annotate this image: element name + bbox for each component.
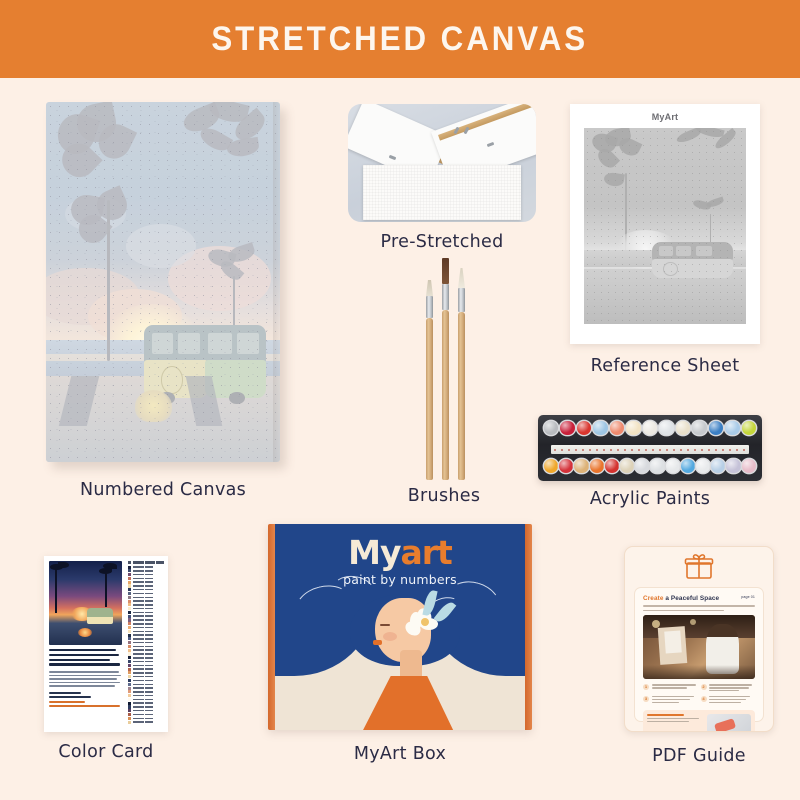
color-chart-row bbox=[128, 679, 164, 682]
quantity-bar bbox=[145, 680, 153, 682]
pdf-heading-rest: a Peaceful Space bbox=[664, 595, 720, 602]
color-swatch bbox=[128, 671, 131, 674]
pdf-tip: 2 bbox=[701, 684, 756, 693]
color-id-bar bbox=[133, 589, 144, 591]
color-id-bar bbox=[133, 657, 144, 659]
color-chart-row bbox=[128, 683, 164, 686]
color-chart-row bbox=[128, 637, 164, 640]
pdf-tip-number: 4 bbox=[701, 696, 707, 702]
color-swatch bbox=[128, 596, 131, 599]
color-swatch bbox=[128, 577, 131, 580]
color-chart-row bbox=[128, 668, 164, 671]
color-swatch bbox=[128, 611, 131, 614]
color-id-bar bbox=[133, 687, 144, 689]
color-chart-row bbox=[128, 592, 164, 595]
pdf-tip-number: 1 bbox=[643, 684, 649, 690]
color-id-bar bbox=[133, 593, 144, 595]
color-id-bar bbox=[133, 680, 144, 682]
paint-pot bbox=[742, 421, 756, 435]
color-swatch bbox=[128, 584, 131, 587]
product-item-pre-stretched: Pre-Stretched bbox=[348, 104, 536, 222]
color-id-bar bbox=[133, 642, 144, 644]
gift-icon bbox=[684, 552, 714, 580]
page-title: STRETCHED CANVAS bbox=[212, 20, 589, 59]
quantity-bar bbox=[145, 691, 153, 693]
pdf-tip: 4 bbox=[701, 696, 756, 705]
color-swatch bbox=[128, 637, 131, 640]
paint-pot bbox=[574, 459, 588, 473]
paint-pot bbox=[559, 459, 573, 473]
quantity-bar bbox=[145, 676, 153, 678]
paint-pot bbox=[692, 421, 706, 435]
quantity-bar bbox=[145, 604, 153, 606]
color-chart-table bbox=[128, 566, 164, 724]
color-chart-row bbox=[128, 615, 164, 618]
color-swatch bbox=[128, 694, 131, 697]
color-swatch bbox=[128, 618, 131, 621]
color-chart-row bbox=[128, 573, 164, 576]
paint-pot bbox=[681, 459, 695, 473]
quantity-bar bbox=[145, 710, 153, 712]
pdf-tip-number: 2 bbox=[701, 684, 707, 690]
paint-pot-row-bottom bbox=[544, 459, 756, 473]
color-chart-row bbox=[128, 596, 164, 599]
color-id-bar bbox=[133, 597, 144, 599]
color-id-bar bbox=[133, 661, 144, 663]
box-logo: Myart bbox=[275, 536, 525, 569]
caption-color-card: Color Card bbox=[44, 742, 168, 762]
color-chart-row bbox=[128, 618, 164, 621]
paintbrush-icon bbox=[398, 258, 490, 480]
paint-pot bbox=[742, 459, 756, 473]
caption-brushes: Brushes bbox=[398, 486, 490, 506]
color-card-instructions bbox=[49, 649, 122, 707]
color-id-bar bbox=[133, 646, 144, 648]
paintbrush-3 bbox=[458, 268, 465, 480]
product-item-color-card: Color Card bbox=[44, 556, 168, 732]
caption-myart-box: MyArt Box bbox=[268, 744, 532, 764]
color-chart-row bbox=[128, 577, 164, 580]
box-logo-art: art bbox=[401, 533, 452, 572]
box-side-left bbox=[268, 524, 275, 730]
quantity-bar bbox=[145, 638, 153, 640]
color-chart-row bbox=[128, 698, 164, 701]
color-swatch bbox=[128, 668, 131, 671]
paint-pot bbox=[544, 459, 558, 473]
color-id-bar bbox=[133, 574, 144, 576]
color-chart-header bbox=[128, 561, 164, 564]
caption-numbered-canvas: Numbered Canvas bbox=[46, 480, 280, 500]
quantity-bar bbox=[145, 661, 153, 663]
color-id-bar bbox=[133, 604, 144, 606]
color-swatch bbox=[128, 573, 131, 576]
color-id-bar bbox=[133, 612, 144, 614]
color-id-bar bbox=[133, 566, 144, 568]
paint-pot bbox=[635, 459, 649, 473]
header-banner: STRETCHED CANVAS bbox=[0, 0, 800, 78]
color-swatch bbox=[128, 645, 131, 648]
paint-pot-row-top bbox=[544, 421, 756, 435]
pdf-tip: 3 bbox=[643, 696, 698, 705]
pdf-tips-grid: 1 2 3 4 bbox=[643, 684, 755, 704]
color-swatch bbox=[128, 660, 131, 663]
color-swatch bbox=[128, 679, 131, 682]
quantity-bar bbox=[145, 585, 153, 587]
color-swatch bbox=[128, 622, 131, 625]
paint-pot bbox=[620, 459, 634, 473]
paint-pot bbox=[711, 459, 725, 473]
color-chart-row bbox=[128, 581, 164, 584]
color-swatch bbox=[128, 592, 131, 595]
paintbrush-2 bbox=[442, 258, 449, 480]
paper-sheet-icon: MyArt bbox=[570, 104, 760, 344]
color-chart-row bbox=[128, 641, 164, 644]
quantity-bar bbox=[145, 623, 153, 625]
color-chart-row bbox=[128, 656, 164, 659]
caption-reference-sheet: Reference Sheet bbox=[570, 356, 760, 376]
color-chart-row bbox=[128, 702, 164, 705]
paint-pot bbox=[725, 421, 739, 435]
quantity-bar bbox=[145, 687, 153, 689]
canvas-edge-shadow bbox=[273, 102, 280, 462]
reference-sheet-logo: MyArt bbox=[570, 112, 760, 122]
product-item-pdf-guide: page 01 Create a Peaceful Space 1 bbox=[624, 546, 774, 732]
product-item-myart-box: Myart paint by numbers MyArt Box bbox=[268, 524, 532, 730]
color-id-bar bbox=[133, 695, 144, 697]
quantity-bar bbox=[145, 619, 153, 621]
pdf-page-number: page 01 bbox=[741, 595, 755, 599]
color-swatch bbox=[128, 626, 131, 629]
color-id-bar bbox=[133, 672, 144, 674]
color-id-bar bbox=[133, 600, 144, 602]
quantity-bar bbox=[145, 646, 153, 648]
paint-pot bbox=[659, 421, 673, 435]
color-swatch bbox=[128, 641, 131, 644]
color-swatch bbox=[128, 652, 131, 655]
color-swatch bbox=[128, 649, 131, 652]
color-swatch bbox=[128, 713, 131, 716]
product-item-acrylic-paints: Acrylic Paints bbox=[538, 415, 762, 481]
paint-pot bbox=[726, 459, 740, 473]
paint-pot bbox=[593, 421, 607, 435]
color-id-bar bbox=[133, 649, 144, 651]
color-chart-row bbox=[128, 584, 164, 587]
quantity-bar bbox=[145, 699, 153, 701]
color-chart-row bbox=[128, 721, 164, 724]
color-chart-row bbox=[128, 652, 164, 655]
color-chart-row bbox=[128, 569, 164, 572]
quantity-bar bbox=[145, 597, 153, 599]
pdf-photo bbox=[643, 615, 755, 679]
paint-pot bbox=[676, 421, 690, 435]
color-chart-row bbox=[128, 709, 164, 712]
color-chart-row bbox=[128, 622, 164, 625]
color-swatch bbox=[128, 569, 131, 572]
color-swatch bbox=[128, 664, 131, 667]
caption-acrylic-paints: Acrylic Paints bbox=[538, 489, 762, 509]
quantity-bar bbox=[145, 593, 153, 595]
canvas-icon bbox=[46, 102, 280, 462]
quantity-bar bbox=[145, 566, 153, 568]
color-id-bar bbox=[133, 668, 144, 670]
box-side-right bbox=[525, 524, 532, 730]
color-id-bar bbox=[133, 653, 144, 655]
color-id-bar bbox=[133, 702, 144, 704]
color-id-bar bbox=[133, 570, 144, 572]
quantity-bar bbox=[145, 570, 153, 572]
quantity-bar bbox=[145, 589, 153, 591]
paint-pot bbox=[610, 421, 624, 435]
color-swatch bbox=[128, 600, 131, 603]
color-swatch bbox=[128, 630, 131, 633]
paintbrush-1 bbox=[426, 280, 433, 480]
color-chart-row bbox=[128, 634, 164, 637]
color-swatch bbox=[128, 615, 131, 618]
color-id-bar bbox=[133, 581, 144, 583]
caption-pre-stretched: Pre-Stretched bbox=[348, 232, 536, 252]
tray-label bbox=[551, 445, 749, 454]
paint-pot bbox=[560, 421, 574, 435]
color-id-bar bbox=[133, 665, 144, 667]
paint-pot bbox=[590, 459, 604, 473]
color-id-bar bbox=[133, 691, 144, 693]
quantity-bar bbox=[145, 702, 153, 704]
paint-pot bbox=[577, 421, 591, 435]
paint-pot bbox=[643, 421, 657, 435]
paint-pot bbox=[696, 459, 710, 473]
color-id-bar bbox=[133, 631, 144, 633]
color-swatch bbox=[128, 687, 131, 690]
color-chart-row bbox=[128, 603, 164, 606]
quantity-bar bbox=[145, 608, 153, 610]
color-swatch bbox=[128, 705, 131, 708]
quantity-bar bbox=[145, 612, 153, 614]
color-chart-row bbox=[128, 607, 164, 610]
color-card-artwork bbox=[49, 561, 122, 645]
color-chart-row bbox=[128, 664, 164, 667]
paint-pot bbox=[544, 421, 558, 435]
color-chart-icon bbox=[44, 556, 168, 732]
color-chart-row bbox=[128, 694, 164, 697]
quantity-bar bbox=[145, 653, 153, 655]
product-item-reference-sheet: MyArt bbox=[570, 104, 760, 344]
paint-pot bbox=[666, 459, 680, 473]
color-id-bar bbox=[133, 676, 144, 678]
quantity-bar bbox=[145, 631, 153, 633]
color-chart-row bbox=[128, 687, 164, 690]
color-id-bar bbox=[133, 710, 144, 712]
quantity-bar bbox=[145, 665, 153, 667]
canvas-corner-icon bbox=[348, 104, 536, 222]
product-item-brushes: Brushes bbox=[398, 258, 490, 480]
paint-tray-icon bbox=[538, 415, 762, 481]
color-chart-row bbox=[128, 600, 164, 603]
quantity-bar bbox=[145, 706, 153, 708]
color-chart-row bbox=[128, 649, 164, 652]
color-swatch bbox=[128, 566, 131, 569]
box-logo-my: My bbox=[348, 533, 400, 572]
quantity-bar bbox=[145, 721, 153, 723]
color-swatch bbox=[128, 581, 131, 584]
color-swatch bbox=[128, 721, 131, 724]
color-swatch bbox=[128, 717, 131, 720]
color-swatch bbox=[128, 588, 131, 591]
color-chart-row bbox=[128, 690, 164, 693]
paint-pot bbox=[709, 421, 723, 435]
reference-sheet-image bbox=[584, 128, 746, 324]
quantity-bar bbox=[145, 615, 153, 617]
pdf-heading-accent: Create bbox=[643, 595, 664, 602]
color-chart-row bbox=[128, 626, 164, 629]
product-box-icon: Myart paint by numbers bbox=[268, 524, 532, 730]
color-swatch bbox=[128, 709, 131, 712]
pdf-highlight-tip bbox=[643, 710, 755, 732]
quantity-bar bbox=[145, 672, 153, 674]
color-swatch bbox=[128, 690, 131, 693]
caption-pdf-guide: PDF Guide bbox=[624, 746, 774, 766]
color-swatch bbox=[128, 683, 131, 686]
quantity-bar bbox=[145, 657, 153, 659]
quantity-bar bbox=[145, 649, 153, 651]
color-id-bar bbox=[133, 608, 144, 610]
quantity-bar bbox=[145, 634, 153, 636]
color-id-bar bbox=[133, 619, 144, 621]
color-id-bar bbox=[133, 699, 144, 701]
color-id-bar bbox=[133, 721, 144, 723]
quantity-bar bbox=[145, 578, 153, 580]
color-swatch bbox=[128, 607, 131, 610]
color-chart-row bbox=[128, 671, 164, 674]
quantity-bar bbox=[145, 574, 153, 576]
pdf-tip: 1 bbox=[643, 684, 698, 693]
color-id-bar bbox=[133, 714, 144, 716]
quantity-bar bbox=[145, 627, 153, 629]
color-swatch bbox=[128, 702, 131, 705]
color-swatch bbox=[128, 698, 131, 701]
color-swatch bbox=[128, 656, 131, 659]
color-chart-row bbox=[128, 705, 164, 708]
color-chart-row bbox=[128, 675, 164, 678]
paint-by-number-dots-secondary bbox=[46, 102, 280, 462]
color-chart-row bbox=[128, 660, 164, 663]
product-item-numbered-canvas: Numbered Canvas bbox=[46, 102, 280, 462]
color-chart-row bbox=[128, 645, 164, 648]
color-chart-row bbox=[128, 588, 164, 591]
color-chart-row bbox=[128, 611, 164, 614]
pdf-highlight-image bbox=[707, 714, 751, 732]
color-chart-row bbox=[128, 713, 164, 716]
color-id-bar bbox=[133, 634, 144, 636]
color-swatch bbox=[128, 675, 131, 678]
quantity-bar bbox=[145, 714, 153, 716]
paint-pot bbox=[626, 421, 640, 435]
quantity-bar bbox=[145, 581, 153, 583]
paint-pot bbox=[650, 459, 664, 473]
color-id-bar bbox=[133, 684, 144, 686]
color-id-bar bbox=[133, 585, 144, 587]
quantity-bar bbox=[145, 600, 153, 602]
color-id-bar bbox=[133, 578, 144, 580]
pdf-heading: page 01 Create a Peaceful Space bbox=[643, 595, 755, 602]
color-swatch bbox=[128, 603, 131, 606]
color-id-bar bbox=[133, 623, 144, 625]
box-tagline: paint by numbers bbox=[275, 572, 525, 587]
color-id-bar bbox=[133, 627, 144, 629]
quantity-bar bbox=[145, 642, 153, 644]
color-id-bar bbox=[133, 638, 144, 640]
color-id-bar bbox=[133, 615, 144, 617]
pdf-tip-number: 3 bbox=[643, 696, 649, 702]
color-id-bar bbox=[133, 718, 144, 720]
color-chart-row bbox=[128, 630, 164, 633]
pdf-document-icon: page 01 Create a Peaceful Space 1 bbox=[624, 546, 774, 732]
quantity-bar bbox=[145, 695, 153, 697]
color-id-bar bbox=[133, 706, 144, 708]
quantity-bar bbox=[145, 668, 153, 670]
color-chart-row bbox=[128, 717, 164, 720]
quantity-bar bbox=[145, 684, 153, 686]
color-chart-row bbox=[128, 566, 164, 569]
quantity-bar bbox=[145, 718, 153, 720]
paint-pot bbox=[605, 459, 619, 473]
color-swatch bbox=[128, 634, 131, 637]
